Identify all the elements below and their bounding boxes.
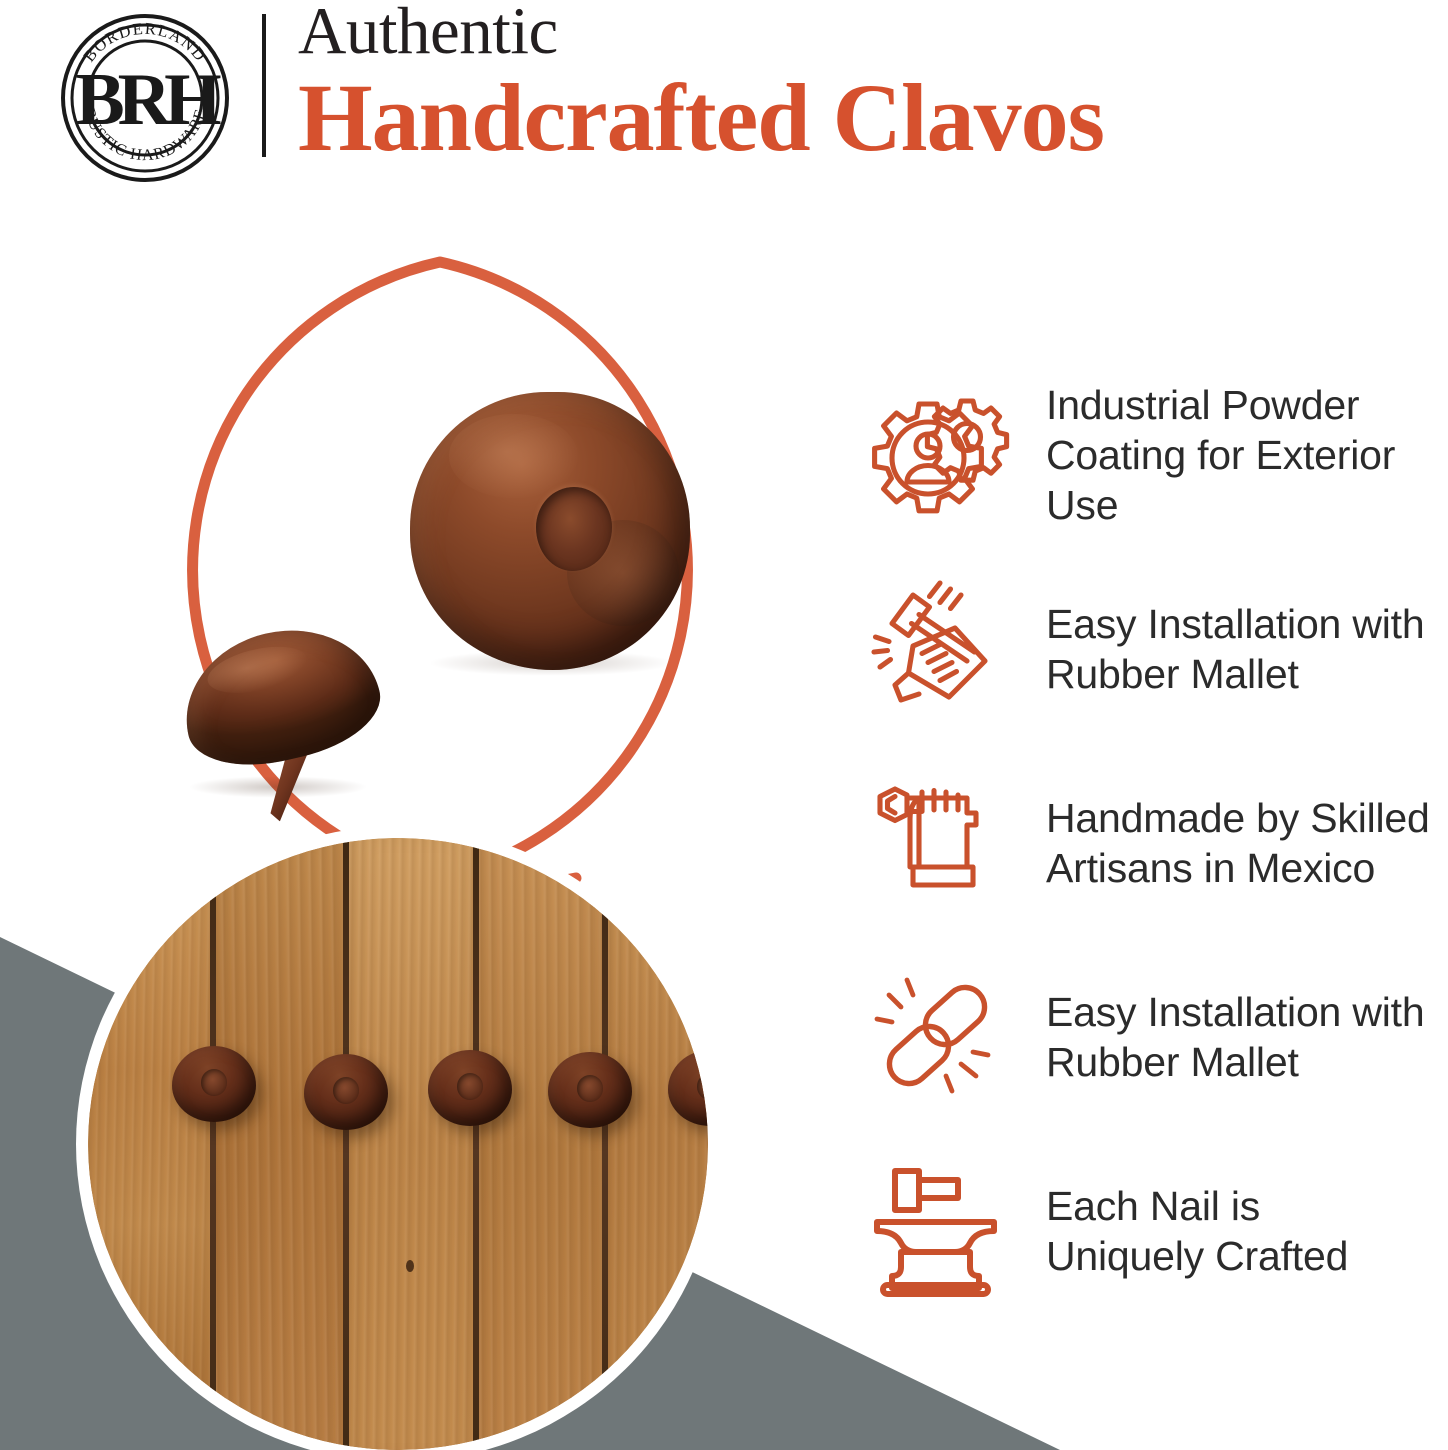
feature-label: Easy Installation with Rubber Mallet: [1012, 987, 1448, 1087]
installed-clavo: [172, 1046, 256, 1122]
feature-label-line1: Industrial Powder: [1046, 380, 1448, 430]
header: BORDERLAND RUSTIC HARDWARE BRH Authentic…: [0, 0, 1448, 190]
plank-seam: [473, 838, 479, 1450]
hand-hammer-icon: [862, 574, 1012, 724]
clavo-front-dome: [410, 392, 690, 670]
feature-item: Each Nail is Uniquely Crafted: [862, 1150, 1448, 1312]
feature-label: Easy Installation with Rubber Mallet: [1012, 599, 1448, 699]
feature-label: Each Nail is Uniquely Crafted: [1012, 1181, 1448, 1281]
feature-label-line2: Rubber Mallet: [1046, 1037, 1448, 1087]
page-title: Handcrafted Clavos: [298, 68, 1448, 168]
feature-label-line1: Easy Installation with: [1046, 987, 1448, 1037]
anvil-hammer-icon: [862, 1156, 1012, 1306]
clavo-front-view: [410, 392, 700, 692]
plank-seam: [343, 838, 349, 1450]
fist-wrench-icon: [862, 768, 1012, 918]
feature-label-line1: Handmade by Skilled: [1046, 793, 1448, 843]
installed-clavo: [428, 1050, 512, 1126]
header-divider: [262, 14, 266, 157]
feature-label: Industrial Powder Coating for Exterior U…: [1012, 380, 1448, 530]
feature-label: Handmade by Skilled Artisans in Mexico: [1012, 793, 1448, 893]
brand-logo: BORDERLAND RUSTIC HARDWARE BRH: [55, 12, 235, 184]
feature-list: Industrial Powder Coating for Exterior U…: [862, 374, 1448, 1344]
clavo-profile-head: [170, 612, 390, 781]
wood-knot: [406, 1260, 414, 1272]
feature-label-line1: Each Nail is: [1046, 1181, 1448, 1231]
svg-text:BRH: BRH: [75, 59, 221, 141]
installed-clavos-photo: [88, 838, 708, 1450]
installed-clavo: [548, 1052, 632, 1128]
clavo-highlight-a: [449, 414, 578, 497]
wood-plank: [348, 838, 476, 1450]
feature-label-line2: Uniquely Crafted: [1046, 1231, 1448, 1281]
wood-door-image: [88, 838, 708, 1450]
chain-links-icon: [862, 962, 1012, 1112]
headline-block: Authentic Handcrafted Clavos: [298, 0, 1448, 168]
logo-badge-icon: BORDERLAND RUSTIC HARDWARE BRH: [55, 12, 235, 184]
plank-seam: [602, 838, 608, 1450]
gears-person-icon: [862, 380, 1012, 530]
feature-item: Easy Installation with Rubber Mallet: [862, 568, 1448, 730]
infographic-page: BORDERLAND RUSTIC HARDWARE BRH Authentic…: [0, 0, 1448, 1450]
wood-plank: [478, 838, 604, 1450]
clavo-profile-view: [182, 588, 392, 818]
clavo-center-dimple: [536, 487, 612, 571]
feature-label-line2: Artisans in Mexico: [1046, 843, 1448, 893]
plank-seam: [210, 838, 216, 1450]
feature-item: Handmade by Skilled Artisans in Mexico: [862, 762, 1448, 924]
feature-item: Easy Installation with Rubber Mallet: [862, 956, 1448, 1118]
wood-plank: [606, 838, 708, 1450]
wood-plank: [214, 838, 346, 1450]
wood-plank: [88, 838, 212, 1450]
installed-clavo: [304, 1054, 388, 1130]
headline-eyebrow: Authentic: [298, 0, 1448, 64]
feature-label-line2: Coating for Exterior Use: [1046, 430, 1448, 530]
feature-label-line2: Rubber Mallet: [1046, 649, 1448, 699]
feature-item: Industrial Powder Coating for Exterior U…: [862, 374, 1448, 536]
feature-label-line1: Easy Installation with: [1046, 599, 1448, 649]
clavos-product-photo: [160, 368, 720, 788]
